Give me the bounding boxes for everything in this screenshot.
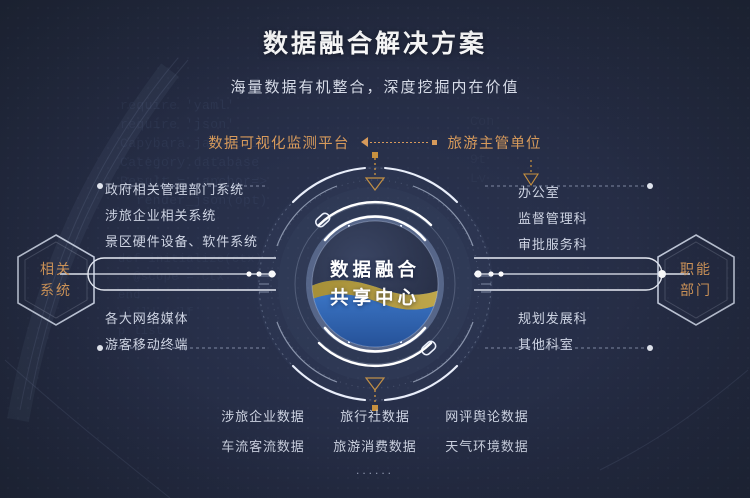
center-hub-rings	[253, 162, 497, 406]
list-item: 其他科室	[518, 332, 574, 358]
top-flow-row: 数据可视化监测平台 旅游主管单位	[0, 131, 750, 153]
bottom-data-sources: 涉旅企业数据 旅行社数据 网评舆论数据 车流客流数据 旅游消费数据 天气环境数据…	[0, 405, 750, 477]
list-right-upper: 办公室 监督管理科 审批服务科	[518, 180, 588, 258]
list-item: 审批服务科	[518, 232, 588, 258]
list-left-lower: 各大网络媒体 游客移动终端	[105, 306, 188, 358]
hex-left-line-1: 相关	[40, 259, 72, 280]
infographic-canvas: require 'yaml' require 'json' Capybara.j…	[0, 0, 750, 498]
list-item: 网评舆论数据	[431, 405, 543, 429]
bottom-grid: 涉旅企业数据 旅行社数据 网评舆论数据 车流客流数据 旅游消费数据 天气环境数据	[207, 405, 543, 459]
list-item: 办公室	[518, 180, 560, 206]
list-item: 游客移动终端	[105, 332, 188, 358]
list-item: 旅游消费数据	[319, 435, 431, 459]
hex-right-line-2: 部门	[680, 280, 712, 301]
dotted-left-arrow-icon	[361, 136, 437, 148]
header: 数据融合解决方案 海量数据有机整合，深度挖掘内在价值	[0, 24, 750, 97]
list-item: 政府相关管理部门系统	[105, 177, 244, 203]
list-item: 涉旅企业数据	[207, 405, 319, 429]
list-item: 涉旅企业相关系统	[105, 203, 216, 229]
hex-related-systems[interactable]: 相关 系统	[14, 232, 98, 328]
label-visualization-platform: 数据可视化监测平台	[208, 132, 349, 153]
list-item: 各大网络媒体	[105, 306, 188, 332]
hex-left-line-2: 系统	[40, 280, 72, 301]
bottom-ellipsis: ......	[356, 463, 394, 477]
list-left-upper: 政府相关管理部门系统 涉旅企业相关系统 景区硬件设备、软件系统	[105, 177, 258, 255]
hex-right-line-1: 职能	[680, 259, 712, 280]
list-right-lower: 规划发展科 其他科室	[518, 306, 588, 358]
hex-functional-departments[interactable]: 职能 部门	[654, 232, 738, 328]
list-item: 监督管理科	[518, 206, 588, 232]
list-item: 规划发展科	[518, 306, 588, 332]
page-subtitle: 海量数据有机整合，深度挖掘内在价值	[0, 76, 750, 97]
list-item: 车流客流数据	[207, 435, 319, 459]
list-item: 景区硬件设备、软件系统	[105, 229, 258, 255]
label-tourism-authority: 旅游主管单位	[448, 132, 542, 153]
list-item: 天气环境数据	[431, 435, 543, 459]
list-item: 旅行社数据	[319, 405, 431, 429]
page-title: 数据融合解决方案	[0, 24, 750, 60]
